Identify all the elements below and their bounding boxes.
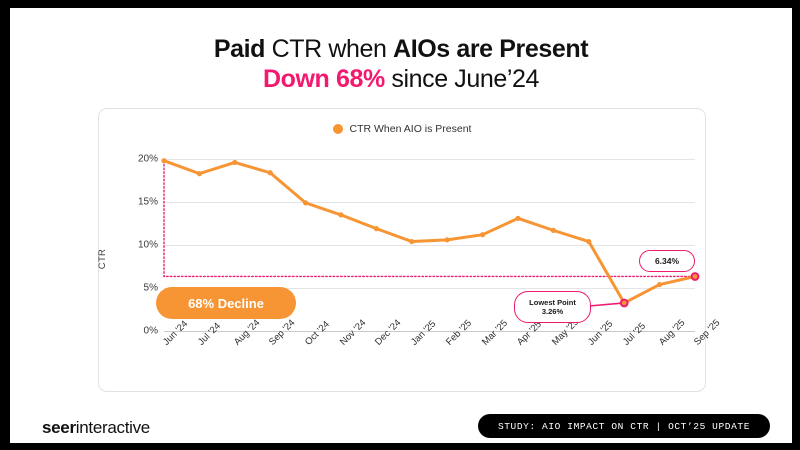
data-point-marker (303, 200, 308, 205)
gridline (164, 202, 695, 203)
chart-plot (99, 109, 705, 391)
x-tick-label: Sep '25 (692, 317, 722, 347)
title-since-june: since June’24 (385, 65, 539, 93)
lowest-point-callout: Lowest Point 3.26% (514, 291, 591, 323)
x-tick-label: Jun '24 (161, 319, 190, 348)
x-tick-label: Dec '24 (373, 317, 403, 347)
x-tick-label: Jun '25 (586, 319, 615, 348)
gridline (164, 245, 695, 246)
data-point-marker (586, 239, 591, 244)
data-point-marker (445, 237, 450, 242)
data-point-marker (197, 171, 202, 176)
reference-line (164, 161, 695, 277)
x-tick-label: Jul '25 (621, 321, 648, 348)
gridline (164, 159, 695, 160)
study-badge-label: STUDY: AIO IMPACT ON CTR | OCT’25 UPDATE (498, 421, 750, 432)
data-point-marker (338, 212, 343, 217)
y-tick-label: 10% (124, 240, 158, 251)
x-tick-label: Aug '24 (232, 317, 262, 347)
x-tick-label: Aug '25 (657, 317, 687, 347)
logo-seer: seer (42, 418, 76, 437)
data-point-marker (374, 226, 379, 231)
y-axis-label: CTR (97, 249, 108, 269)
data-point-marker (657, 282, 662, 287)
final-value-callout: 6.34% (639, 250, 695, 272)
data-point-marker (551, 228, 556, 233)
logo-interactive: interactive (76, 418, 150, 437)
x-tick-label: Sep '24 (267, 317, 297, 347)
final-value-label: 6.34% (655, 256, 679, 267)
x-tick-label: Jul '24 (196, 321, 223, 348)
legend-dot-icon (333, 124, 343, 134)
x-axis-ticks: Jun '24Jul '24Aug '24Sep '24Oct '24Nov '… (99, 109, 705, 391)
title-paid: Paid (214, 35, 272, 63)
study-badge: STUDY: AIO IMPACT ON CTR | OCT’25 UPDATE (478, 414, 770, 438)
gridline (164, 331, 695, 332)
x-tick-label: Feb '25 (444, 318, 474, 348)
title-ctr-when: CTR when (272, 35, 393, 63)
x-tick-label: Jan '25 (409, 319, 438, 348)
data-point-marker (232, 160, 237, 165)
data-point-marker (161, 158, 166, 163)
seer-interactive-logo: seerinteractive (42, 418, 150, 438)
chart-card: CTR When AIO is Present CTR 0%5%10%15%20… (98, 108, 706, 392)
callout-connector (589, 303, 624, 306)
title-line-2: Down 68% since June’24 (10, 64, 792, 94)
y-tick-label: 5% (124, 283, 158, 294)
y-tick-label: 0% (124, 326, 158, 337)
title-line-1: Paid CTR when AIOs are Present (10, 34, 792, 64)
chart-legend: CTR When AIO is Present (99, 123, 705, 135)
title-aios-present: AIOs are Present (393, 35, 588, 63)
series-line-ctr-when-aio-is-present (164, 161, 695, 303)
data-point-marker (621, 300, 628, 307)
legend-label: CTR When AIO is Present (350, 123, 472, 135)
x-tick-label: Oct '24 (303, 319, 332, 348)
decline-badge-label: 68% Decline (188, 296, 264, 311)
data-point-marker (692, 273, 699, 280)
data-point-marker (409, 239, 414, 244)
decline-badge: 68% Decline (156, 287, 296, 319)
slide: Paid CTR when AIOs are Present Down 68% … (10, 8, 792, 443)
x-tick-label: Apr '25 (515, 319, 544, 348)
y-tick-label: 15% (124, 197, 158, 208)
title-down-68: Down 68% (263, 65, 385, 93)
axis-layer: 0%5%10%15%20% (99, 109, 705, 391)
data-point-marker (268, 170, 273, 175)
title-block: Paid CTR when AIOs are Present Down 68% … (10, 34, 792, 94)
lowest-point-title: Lowest Point (529, 298, 576, 307)
data-point-marker (480, 232, 485, 237)
data-point-marker (515, 216, 520, 221)
x-tick-label: Nov '24 (338, 317, 368, 347)
lowest-point-value: 3.26% (542, 307, 563, 316)
y-tick-label: 20% (124, 154, 158, 165)
x-tick-label: Mar '25 (480, 318, 510, 348)
